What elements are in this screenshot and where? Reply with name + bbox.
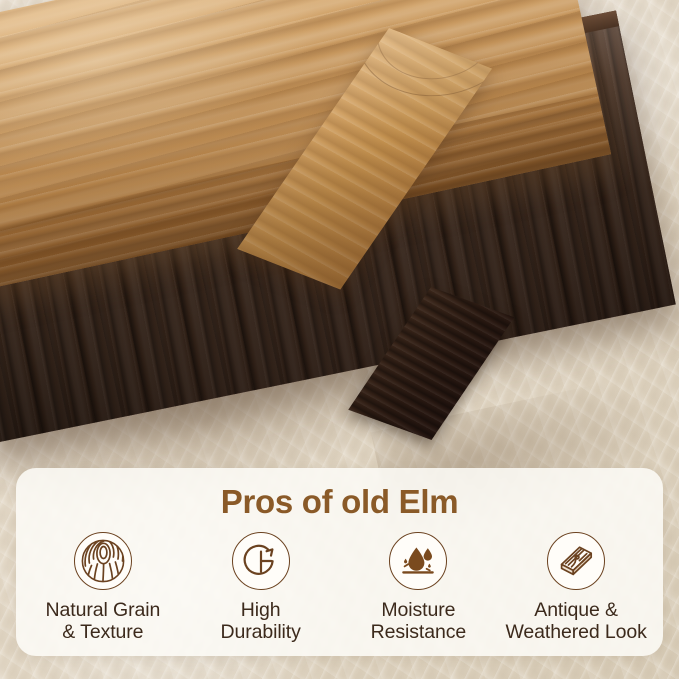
feature-item-antique-look: Antique & Weathered Look — [497, 532, 655, 644]
pros-info-card: Pros of old Elm — [16, 468, 663, 656]
feature-label-natural-grain: Natural Grain & Texture — [46, 599, 161, 644]
card-title: Pros of old Elm — [16, 485, 663, 520]
feature-label-antique-look: Antique & Weathered Look — [505, 599, 646, 644]
feature-item-moisture-resistance: Moisture Resistance — [340, 532, 498, 644]
feature-list: Natural Grain & Texture High Durability — [16, 520, 663, 644]
wood-grain-icon — [74, 532, 132, 590]
product-infographic: Pros of old Elm — [0, 0, 679, 679]
feature-item-natural-grain: Natural Grain & Texture — [24, 532, 182, 644]
feature-item-high-durability: High Durability — [182, 532, 340, 644]
clock-rotate-icon — [232, 532, 290, 590]
water-droplet-icon — [389, 532, 447, 590]
wood-plank-icon — [547, 532, 605, 590]
feature-label-high-durability: High Durability — [220, 599, 300, 644]
feature-label-moisture-resistance: Moisture Resistance — [371, 599, 466, 644]
